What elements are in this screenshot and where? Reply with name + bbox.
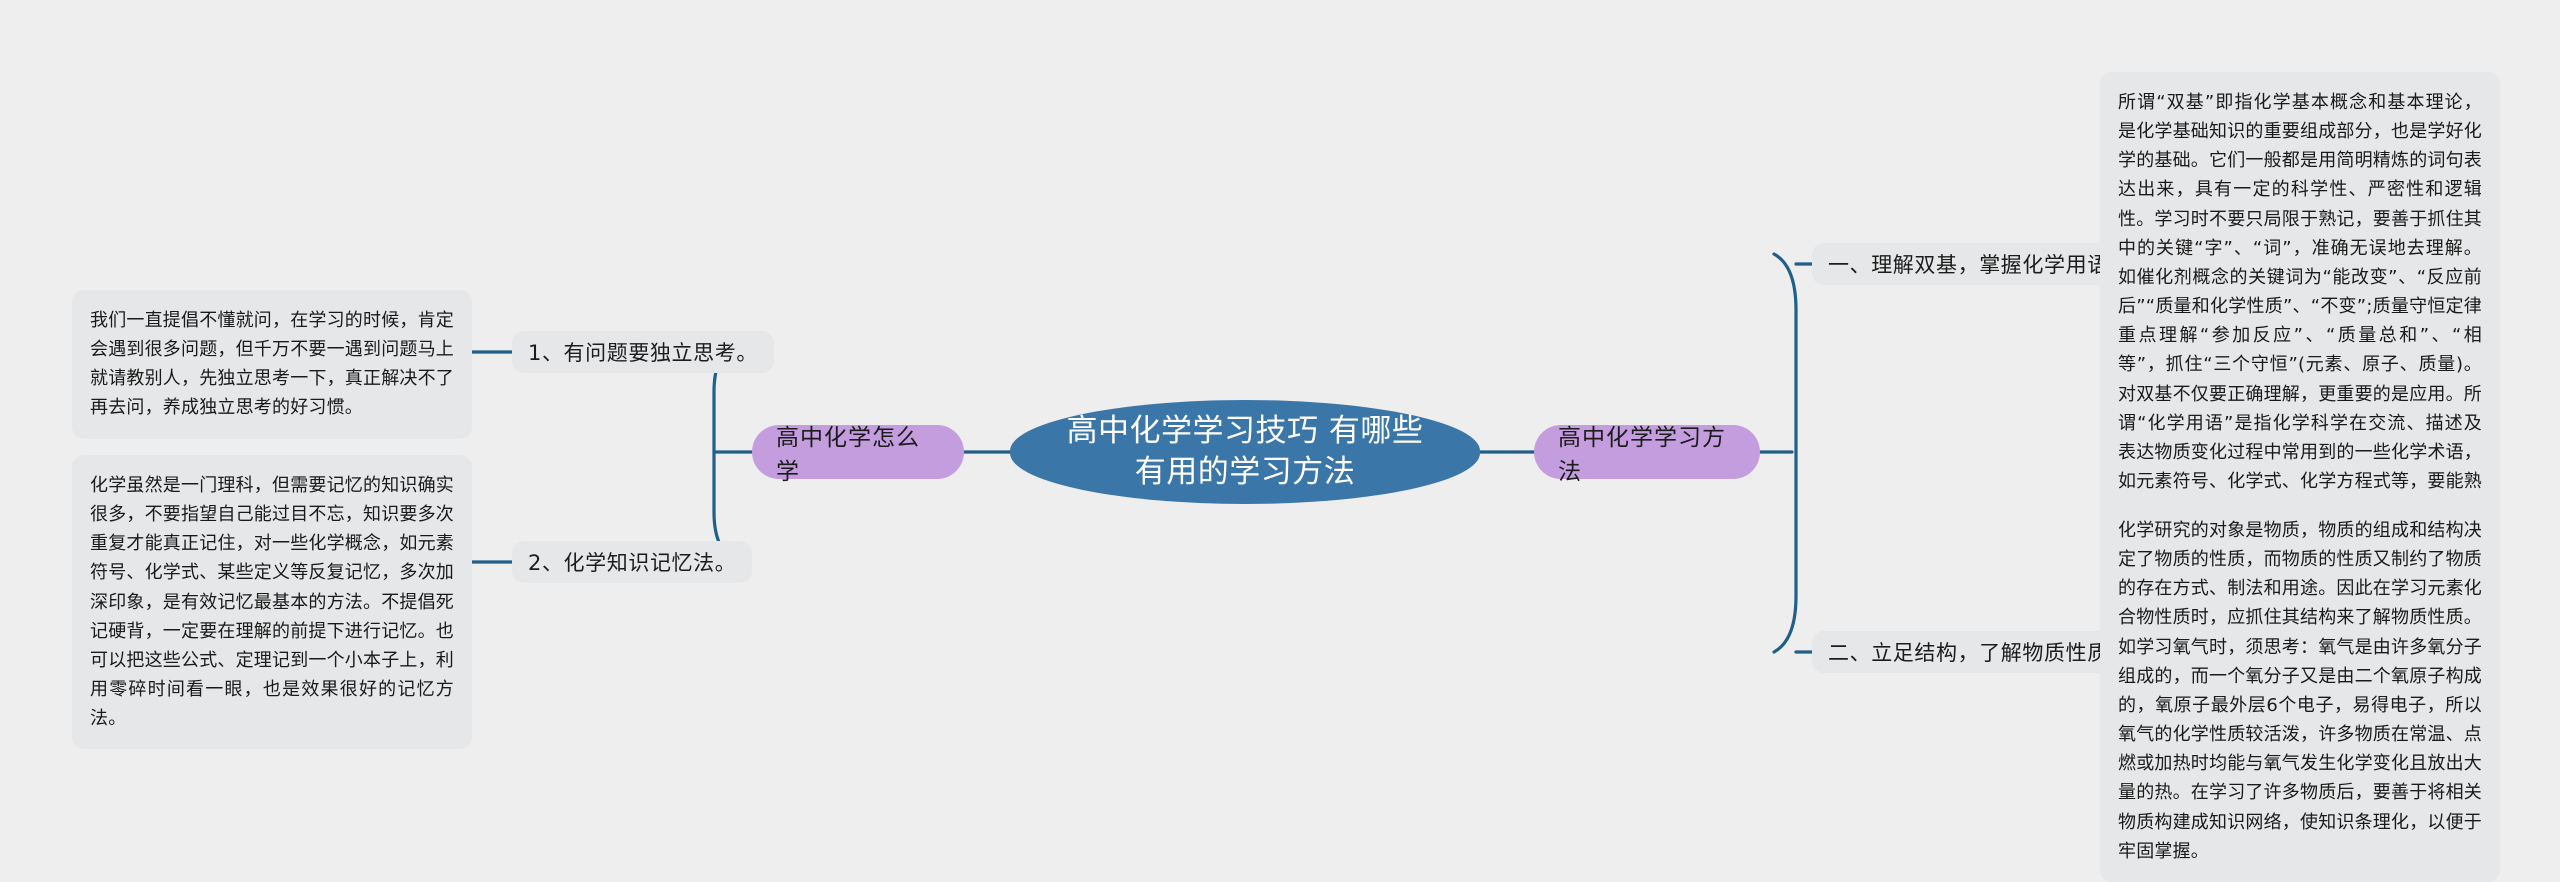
branch-node-left[interactable]: 高中化学怎么学 — [752, 425, 964, 479]
branch-left-label: 高中化学怎么学 — [776, 418, 940, 486]
edge-right-bracket — [1774, 254, 1796, 652]
edge-left-bracket — [714, 342, 738, 562]
branch-right-label: 高中化学学习方法 — [1558, 418, 1736, 486]
topic-label-left-2-text: 2、化学知识记忆法。 — [528, 547, 736, 577]
detail-box-right-1: 所谓“双基”即指化学基本概念和基本理论，是化学基础知识的重要组成部分，也是学好化… — [2100, 72, 2500, 541]
root-label-line1: 高中化学学习技巧 有哪些 — [1067, 411, 1424, 452]
root-node[interactable]: 高中化学学习技巧 有哪些 有用的学习方法 — [1010, 400, 1480, 504]
topic-label-right-2[interactable]: 二、立足结构，了解物质性质 — [1812, 631, 2125, 673]
detail-box-left-1: 我们一直提倡不懂就问，在学习的时候，肯定会遇到很多问题，但千万不要一遇到问题马上… — [72, 290, 472, 439]
topic-label-left-2[interactable]: 2、化学知识记忆法。 — [512, 541, 752, 583]
detail-box-left-2: 化学虽然是一门理科，但需要记忆的知识确实很多，不要指望自己能过目不忘，知识要多次… — [72, 455, 472, 749]
detail-box-right-2: 化学研究的对象是物质，物质的组成和结构决定了物质的性质，而物质的性质又制约了物质… — [2100, 500, 2500, 882]
branch-node-right[interactable]: 高中化学学习方法 — [1534, 425, 1760, 479]
topic-label-left-1[interactable]: 1、有问题要独立思考。 — [512, 331, 774, 373]
topic-label-left-1-text: 1、有问题要独立思考。 — [528, 337, 758, 367]
topic-label-right-1[interactable]: 一、理解双基，掌握化学用语 — [1812, 243, 2125, 285]
root-label-line2: 有用的学习方法 — [1067, 452, 1424, 493]
mindmap-canvas: 高中化学学习技巧 有哪些 有用的学习方法 高中化学怎么学 高中化学学习方法 1、… — [0, 0, 2560, 875]
root-label: 高中化学学习技巧 有哪些 有用的学习方法 — [1067, 411, 1424, 493]
topic-label-right-1-text: 一、理解双基，掌握化学用语 — [1828, 249, 2109, 279]
topic-label-right-2-text: 二、立足结构，了解物质性质 — [1828, 637, 2109, 667]
